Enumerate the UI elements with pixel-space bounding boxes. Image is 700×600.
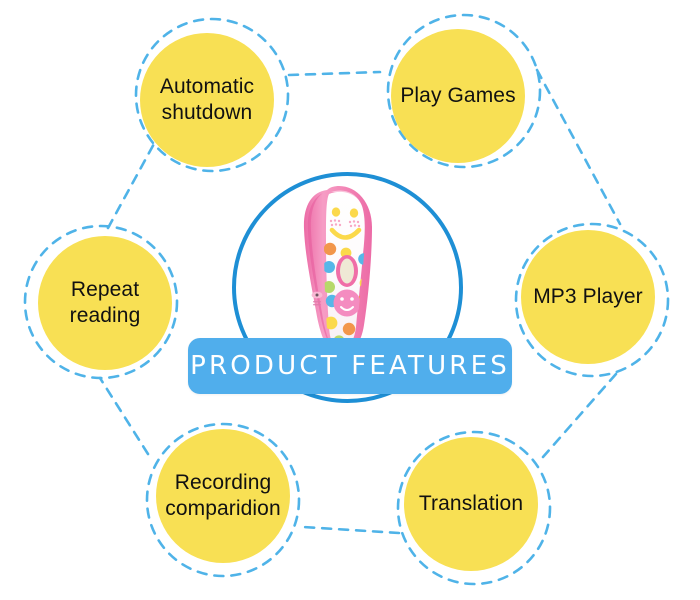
connector-bottom-left <box>100 378 148 454</box>
device-big-smiley-eye-right <box>350 297 354 301</box>
infographic-canvas: Automaticshutdown Play Games MP3 Player … <box>0 0 700 600</box>
device-eye-left <box>332 207 340 216</box>
banner-title: PRODUCT FEATURES <box>190 351 510 381</box>
device-side-button-dot <box>316 294 319 297</box>
device-dot-blue-2 <box>323 261 335 273</box>
feature-label-translation: Translation <box>410 491 532 517</box>
device-big-smiley <box>334 290 361 317</box>
connector-bottom <box>303 527 399 533</box>
feature-bubble-automatic-shutdown[interactable]: Automaticshutdown <box>140 33 274 167</box>
device-dot-orange-3 <box>343 323 355 335</box>
feature-label-automatic-shutdown: Automaticshutdown <box>146 74 268 125</box>
device-big-smiley-eye-left <box>340 297 344 301</box>
reading-pen-device <box>291 183 385 358</box>
connector-top-left <box>108 142 155 228</box>
device-eye-right <box>350 208 358 217</box>
feature-bubble-mp3-player[interactable]: MP3 Player <box>521 230 655 364</box>
connector-top-right <box>537 70 620 224</box>
feature-label-recording-comparidion: Recordingcomparidion <box>162 470 284 521</box>
feature-bubble-play-games[interactable]: Play Games <box>391 29 525 163</box>
feature-bubble-repeat-reading[interactable]: Repeatreading <box>38 236 172 370</box>
device-speaker-inner <box>340 259 354 284</box>
feature-label-repeat-reading: Repeatreading <box>44 277 166 328</box>
connector-top <box>289 72 380 75</box>
device-dot-orange <box>324 243 336 255</box>
feature-bubble-translation[interactable]: Translation <box>404 437 538 571</box>
connector-bottom-right <box>543 374 616 457</box>
product-features-banner[interactable]: PRODUCT FEATURES <box>188 338 512 394</box>
feature-bubble-recording-comparidion[interactable]: Recordingcomparidion <box>156 429 290 563</box>
feature-label-mp3-player: MP3 Player <box>527 284 649 310</box>
feature-label-play-games: Play Games <box>397 83 519 109</box>
